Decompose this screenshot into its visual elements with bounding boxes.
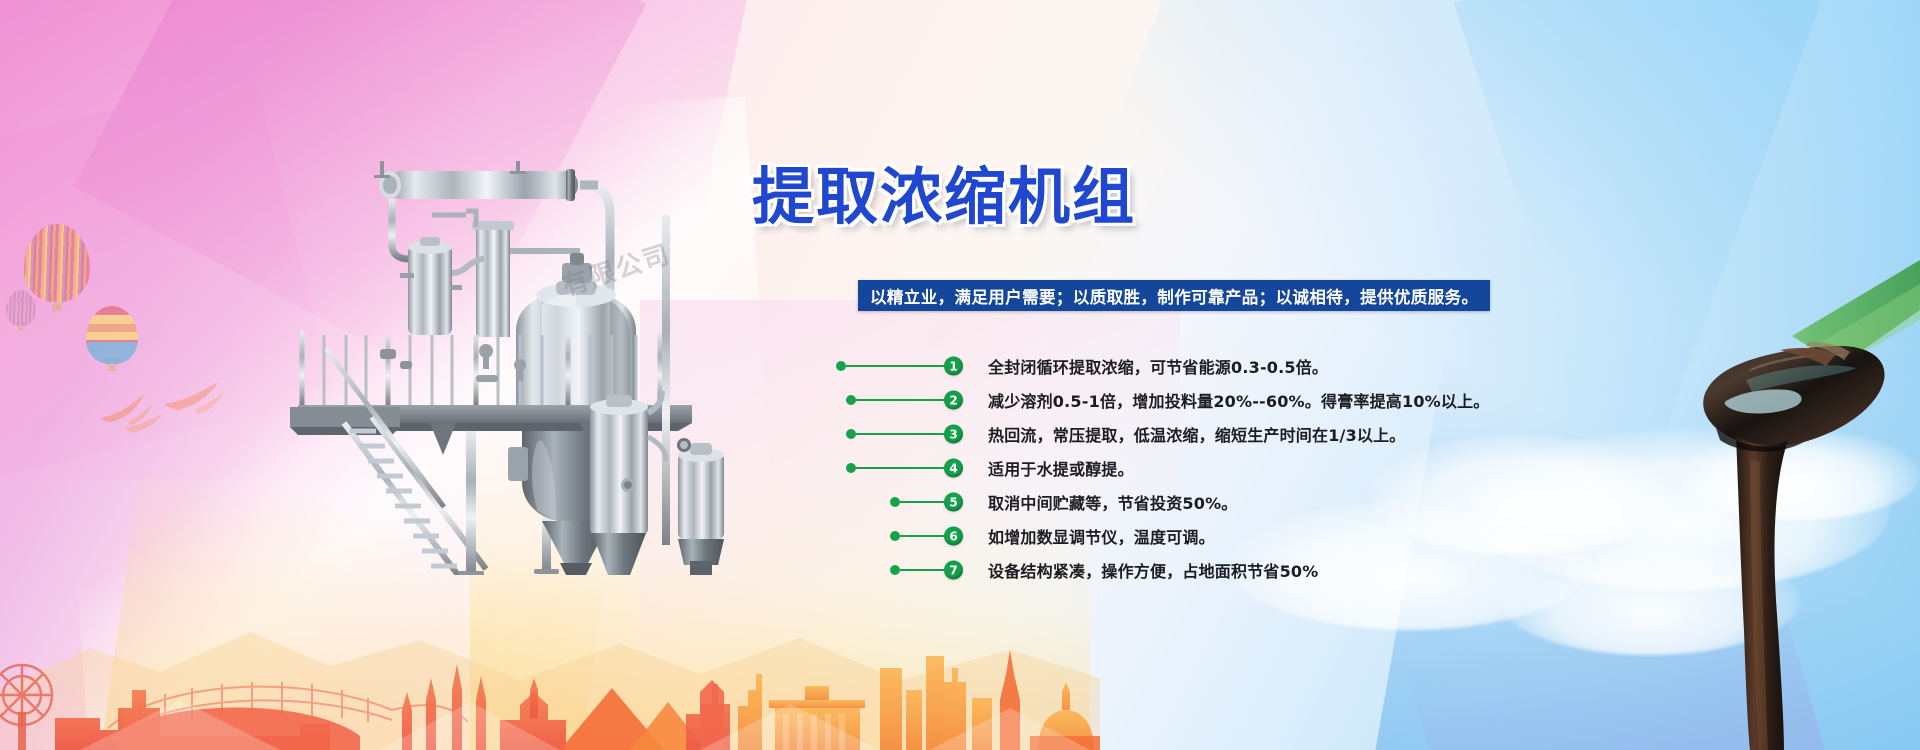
connector-line [900, 501, 944, 503]
feature-number: 2 [944, 391, 963, 410]
leader-line [836, 361, 944, 371]
leader-line [846, 395, 944, 405]
bullet-dot [890, 565, 900, 575]
connector-line [900, 535, 944, 537]
feature-number: 3 [944, 425, 963, 444]
leader-line [890, 531, 944, 541]
leader-line [846, 463, 944, 473]
feature-text: 适用于水提或醇提。 [988, 456, 1134, 480]
balloon-basket [19, 327, 24, 331]
slogan-text: 以精立业，满足用户需要；以质取胜，制作可靠产品；以诚相待，提供优质服务。 [870, 284, 1478, 308]
hot-air-balloon-chevron [86, 306, 138, 364]
oil-drip-graphic [1540, 250, 1920, 750]
feature-item: 1 全封闭循环提取浓缩，可节省能源0.3-0.5倍。 [836, 349, 1536, 383]
feature-text: 热回流，常压提取，低温浓缩，缩短生产时间在1/3以上。 [988, 422, 1406, 446]
leader-line [890, 497, 944, 507]
feature-text: 取消中间贮藏等，节省投资50%。 [988, 490, 1238, 514]
connector-line [900, 569, 944, 571]
bullet-dot [890, 531, 900, 541]
balloon-basket [109, 365, 116, 371]
connector-line [856, 433, 944, 435]
bullet-dot [846, 463, 856, 473]
feature-item: 2 减少溶剂0.5-1倍，增加投料量20%--60%。得膏率提高10%以上。 [836, 383, 1536, 417]
feature-item: 6 如增加数显调节仪，温度可调。 [836, 519, 1536, 553]
slogan-banner: 以精立业，满足用户需要；以质取胜，制作可靠产品；以诚相待，提供优质服务。 [858, 280, 1490, 311]
feature-item: 7 设备结构紧凑，操作方便，占地面积节省50% [836, 553, 1536, 587]
extraction-concentration-machine [280, 155, 750, 575]
feature-number: 7 [944, 561, 963, 580]
feature-list: 1 全封闭循环提取浓缩，可节省能源0.3-0.5倍。 2 减少溶剂0.5-1倍，… [836, 349, 1536, 587]
feature-number: 5 [944, 493, 963, 512]
hot-air-balloon-small [6, 290, 36, 326]
connector-line [846, 365, 944, 367]
feature-text: 设备结构紧凑，操作方便，占地面积节省50% [988, 558, 1319, 582]
balloon-ropes [51, 294, 64, 303]
feature-number: 1 [944, 357, 963, 376]
balloon-envelope [86, 306, 138, 364]
feature-number: 6 [944, 527, 963, 546]
balloon-envelope [6, 290, 36, 326]
balloon-basket [53, 303, 62, 311]
bullet-dot [890, 497, 900, 507]
leader-line [890, 565, 944, 575]
feature-text: 减少溶剂0.5-1倍，增加投料量20%--60%。得膏率提高10%以上。 [988, 388, 1490, 412]
feature-text: 全封闭循环提取浓缩，可节省能源0.3-0.5倍。 [988, 354, 1328, 378]
bullet-dot [846, 395, 856, 405]
feature-number: 4 [944, 459, 963, 478]
bird-silhouette [122, 412, 182, 438]
promo-banner: 有限公司 [0, 0, 1920, 750]
connector-line [856, 399, 944, 401]
bullet-dot [836, 361, 846, 371]
bullet-dot [846, 429, 856, 439]
feature-item: 3 热回流，常压提取，低温浓缩，缩短生产时间在1/3以上。 [836, 417, 1536, 451]
connector-line [856, 467, 944, 469]
leader-line [846, 429, 944, 439]
feature-item: 5 取消中间贮藏等，节省投资50%。 [836, 485, 1536, 519]
feature-item: 4 适用于水提或醇提。 [836, 451, 1536, 485]
balloon-ropes [107, 358, 117, 365]
feature-text: 如增加数显调节仪，温度可调。 [988, 524, 1215, 548]
page-title: 提取浓缩机组 [752, 146, 1136, 236]
